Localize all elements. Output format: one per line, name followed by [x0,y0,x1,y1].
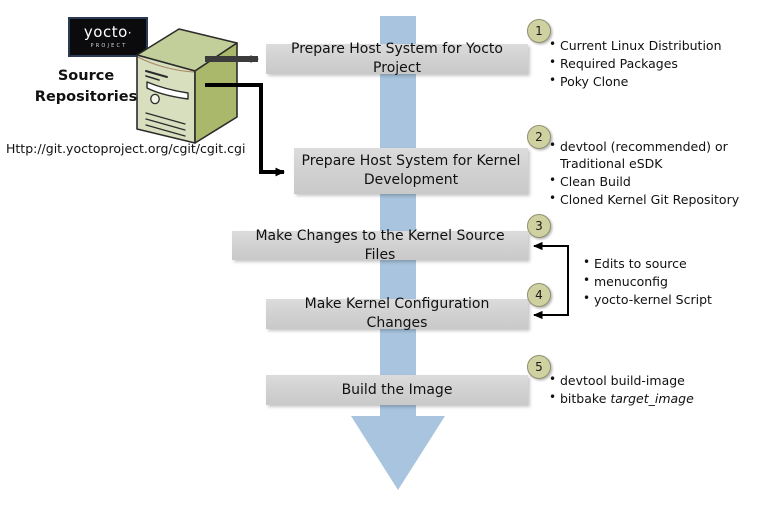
process-box-make-kernel-source-changes[interactable]: Make Changes to the Kernel Source Files [232,231,528,260]
step-number-3: 3 [527,214,551,238]
process-box-make-kernel-config-changes[interactable]: Make Kernel Configuration Changes [266,299,528,329]
note-item: menuconfig [594,273,760,290]
notes-steps-3-and-4: Edits to source menuconfig yocto-kernel … [580,255,760,309]
process-box-prepare-host-kernel[interactable]: Prepare Host System for Kernel Developme… [294,148,528,194]
logo-dot: · [128,26,132,40]
note-item-emphasis: target_image [610,391,693,406]
notes-step-1: Current Linux Distribution Required Pack… [546,37,761,91]
note-item: Cloned Kernel Git Repository [560,191,766,208]
logo-wordmark-text: yocto [84,23,128,41]
note-item: Required Packages [560,55,761,72]
process-box-build-the-image[interactable]: Build the Image [266,375,528,405]
source-repositories-line2: Repositories [26,87,146,108]
diagram-canvas: yocto· PROJECT Source Repositories Http:… [0,0,769,517]
note-item: yocto-kernel Script [594,291,760,308]
note-item: bitbake target_image [560,390,756,407]
note-item: Current Linux Distribution [560,37,761,54]
note-item: Clean Build [560,173,766,190]
notes-step-2: devtool (recommended) or Traditional eSD… [546,138,766,209]
step-number-4: 4 [527,283,551,307]
notes-step-5: devtool build-image bitbake target_image [546,372,756,408]
process-box-prepare-host-yocto[interactable]: Prepare Host System for Yocto Project [266,44,528,74]
note-item: devtool build-image [560,372,756,389]
note-item-text: bitbake [560,391,610,406]
note-item: devtool (recommended) or Traditional eSD… [560,138,766,172]
note-item: Edits to source [594,255,760,272]
source-repositories-line1: Source [26,66,146,87]
note-item: Poky Clone [560,73,761,90]
source-repositories-label: Source Repositories [26,66,146,108]
logo-wordmark: yocto· [84,25,132,41]
server-tower-icon [133,25,241,147]
logo-subword: PROJECT [90,43,127,50]
